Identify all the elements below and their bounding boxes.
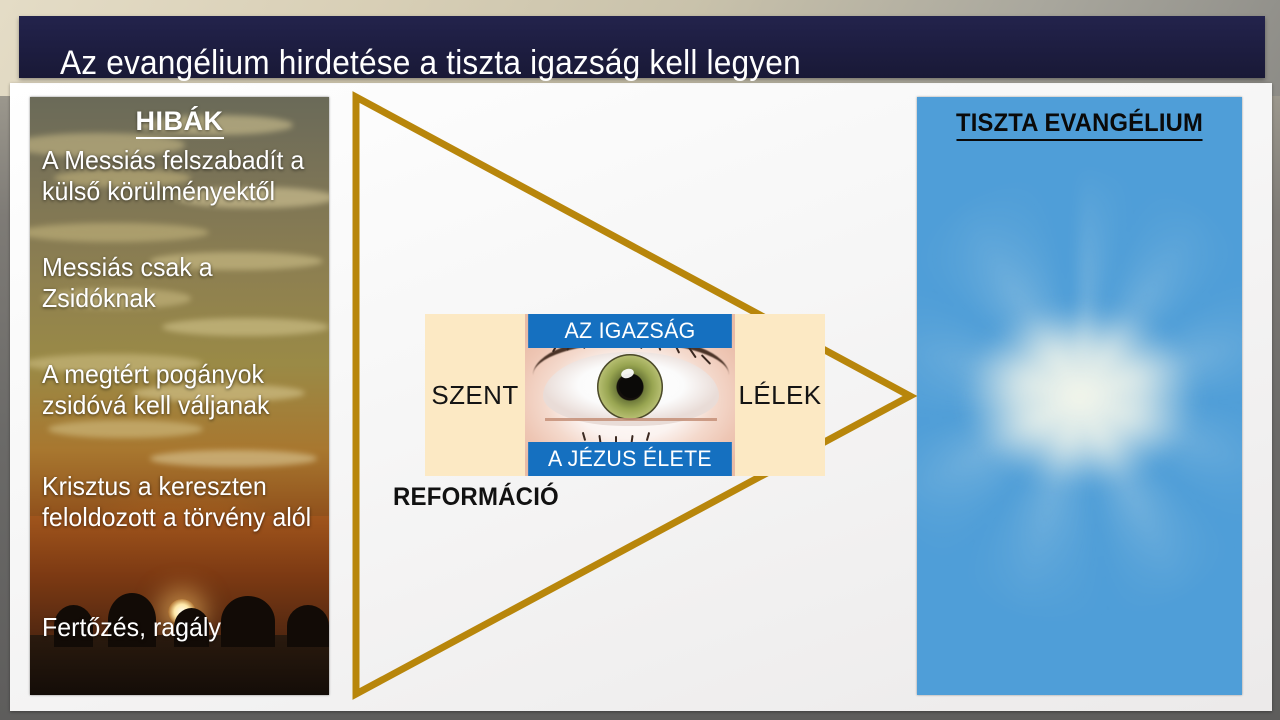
life-of-jesus-banner: A JÉZUS ÉLETE: [528, 442, 732, 476]
label-reformacio: REFORMÁCIÓ: [393, 483, 559, 512]
list-item: A Messiás felszabadít a külső körülménye…: [42, 145, 313, 207]
presentation-slide: Az evangélium hirdetése a tiszta igazság…: [0, 0, 1280, 720]
label-lelek: LÉLEK: [735, 314, 825, 476]
light-core: [930, 281, 1230, 511]
errors-text-layer: HIBÁK A Messiás felszabadít a külső körü…: [30, 97, 329, 695]
list-item: A megtért pogányok zsidóvá kell váljanak: [42, 359, 313, 421]
slide-title-bar: Az evangélium hirdetése a tiszta igazság…: [19, 16, 1265, 78]
label-szent: SZENT: [425, 314, 525, 476]
eye-composite: AZ IGAZSÁG A JÉZUS ÉLETE SZENT LÉLEK: [425, 314, 825, 476]
page-title: Az evangélium hirdetése a tiszta igazság…: [60, 37, 801, 89]
reformation-diagram: AZ IGAZSÁG A JÉZUS ÉLETE SZENT LÉLEK REF…: [330, 90, 930, 700]
truth-banner: AZ IGAZSÁG: [528, 314, 732, 348]
errors-heading: HIBÁK: [30, 106, 329, 137]
list-item: Krisztus a kereszten feloldozott a törvé…: [42, 471, 313, 533]
list-item: Fertőzés, ragály: [42, 612, 313, 643]
list-item: Messiás csak a Zsidóknak: [42, 252, 313, 314]
pure-gospel-panel: TISZTA EVANGÉLIUM: [917, 97, 1242, 695]
pure-gospel-heading: TISZTA EVANGÉLIUM: [925, 109, 1234, 138]
errors-photo-panel: HIBÁK A Messiás felszabadít a külső körü…: [30, 97, 329, 695]
